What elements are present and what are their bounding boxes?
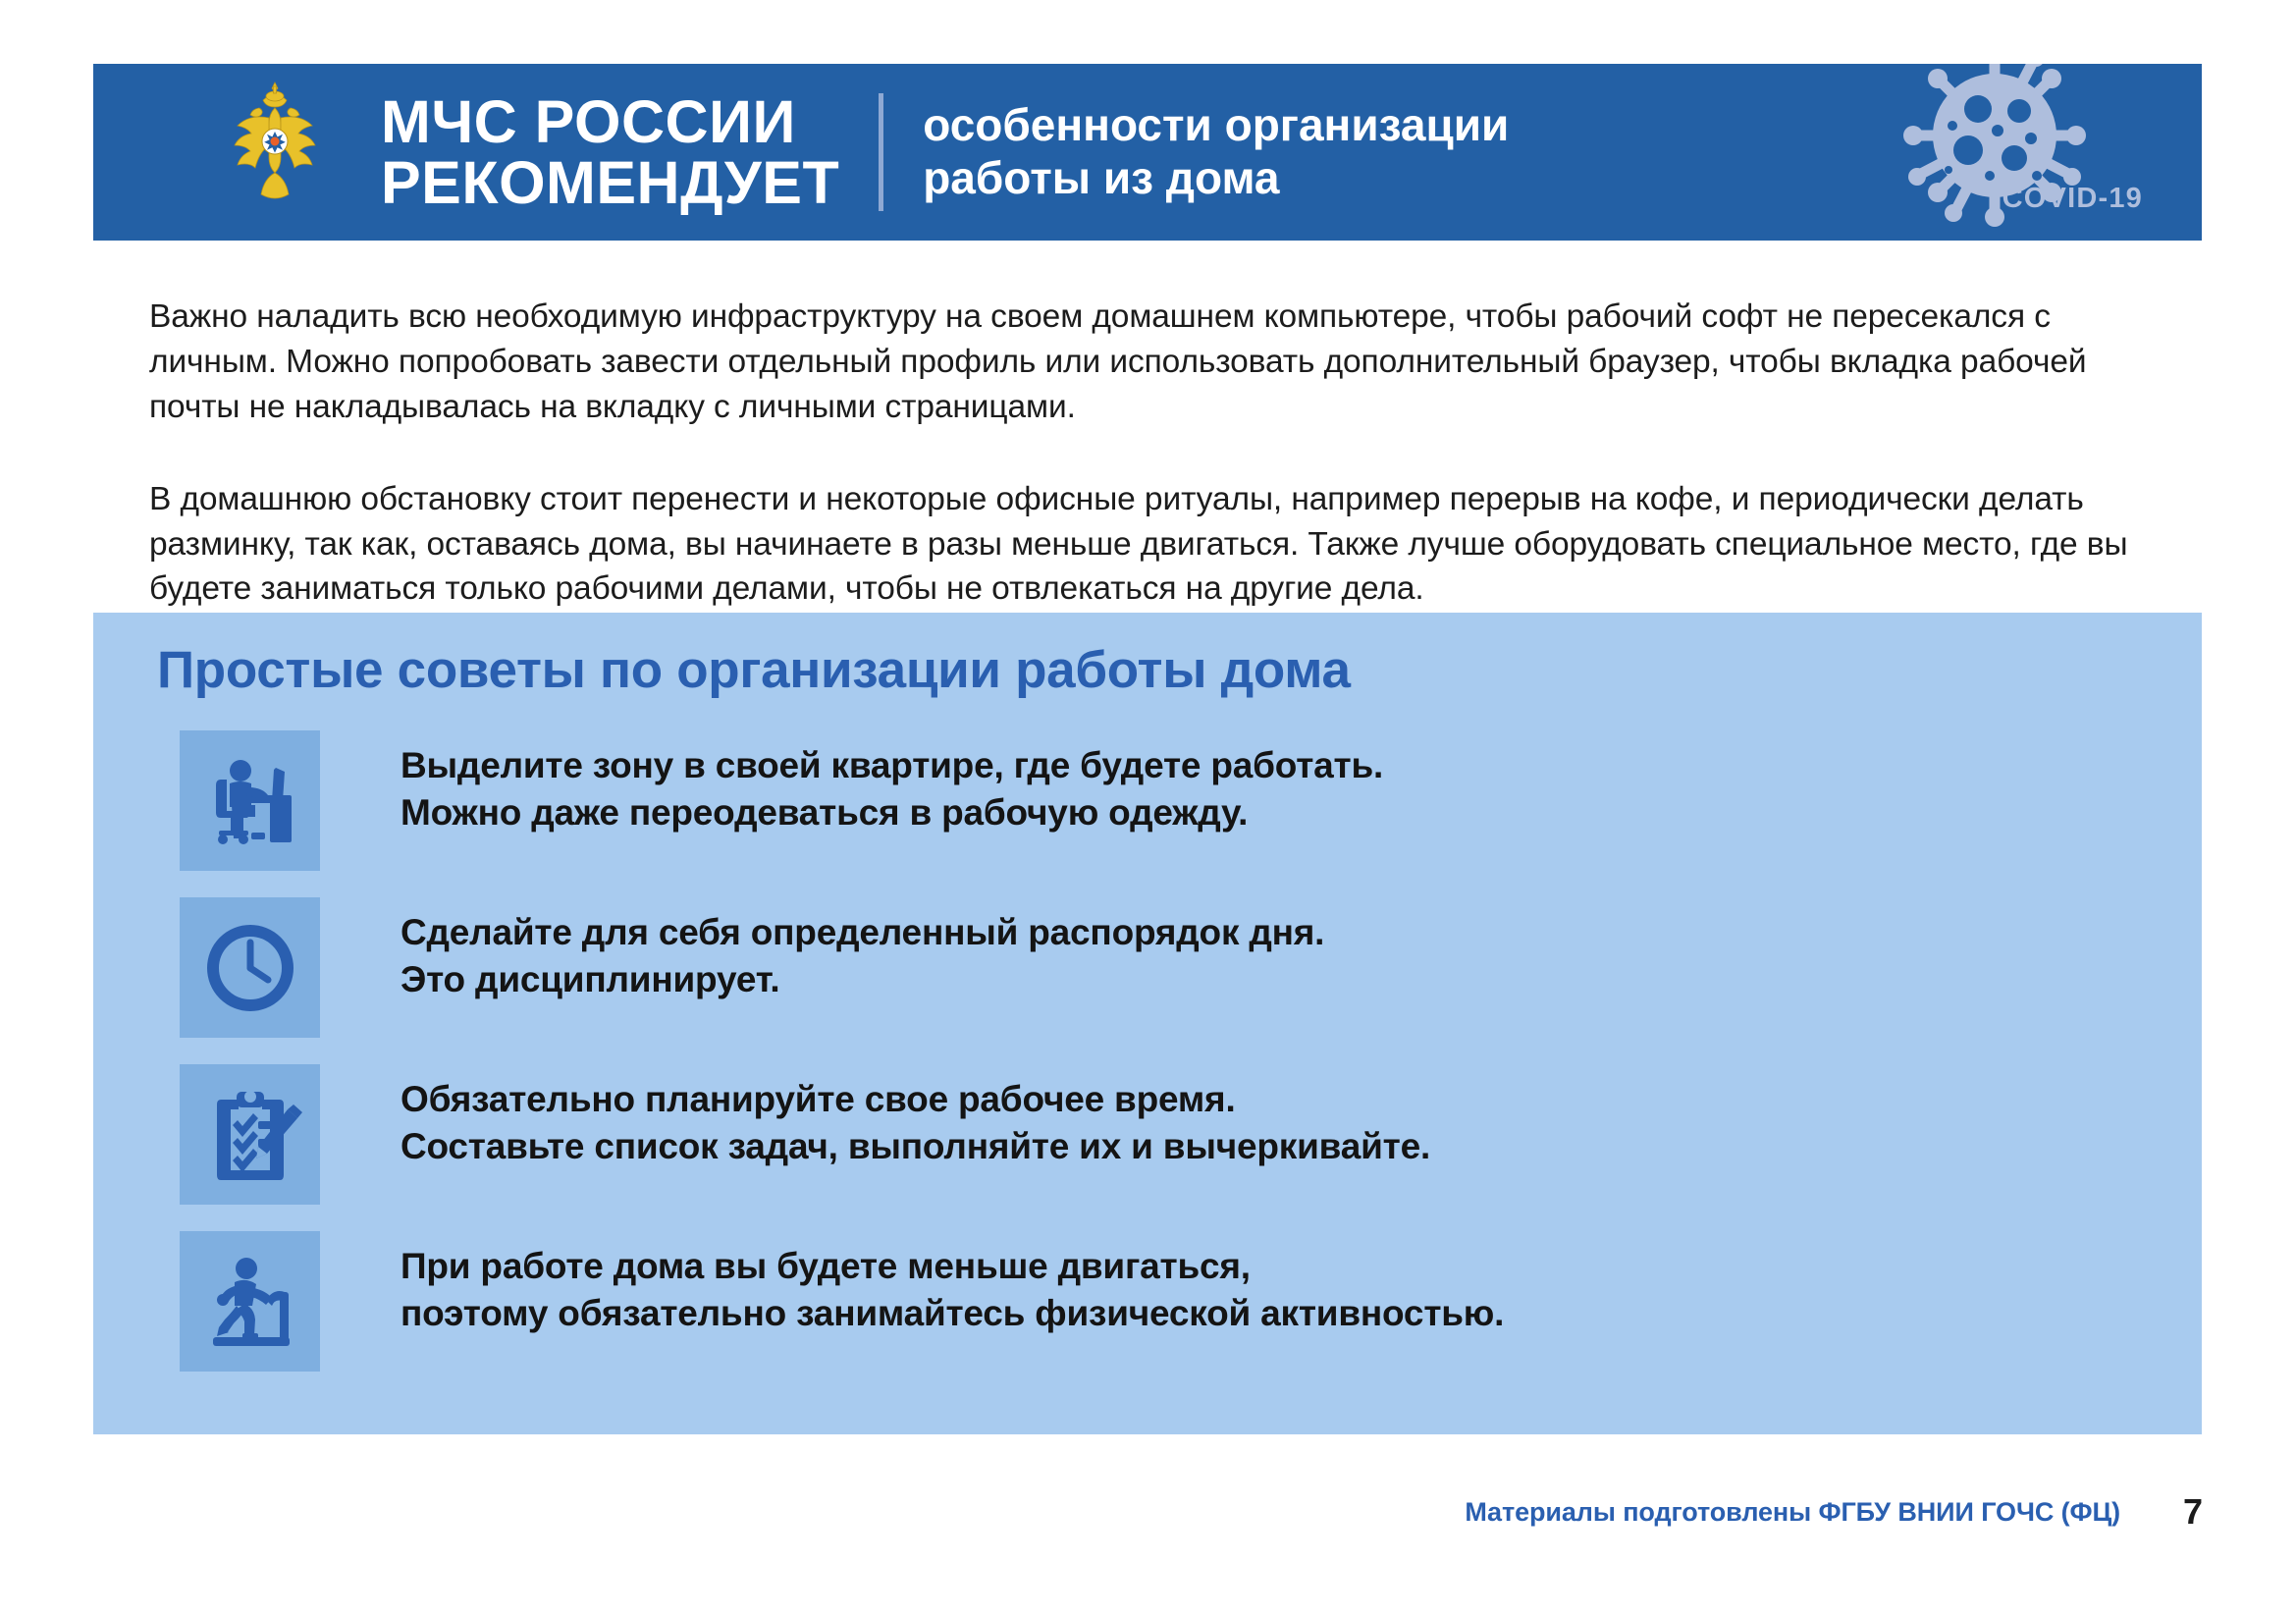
tip-text: При работе дома вы будете меньше двигать… [400, 1231, 2163, 1337]
covid-label: COVID-19 [2002, 183, 2143, 215]
intro-text-block: Важно наладить всю необходимую инфрастру… [149, 295, 2171, 612]
tip-text: Сделайте для себя определенный распорядо… [400, 897, 2163, 1003]
tips-panel-title: Простые советы по организации работы дом… [157, 640, 1351, 700]
tip-line-1: При работе дома вы будете меньше двигать… [400, 1243, 2163, 1290]
intro-paragraph-1: Важно наладить всю необходимую инфрастру… [149, 295, 2171, 430]
tip-item: При работе дома вы будете меньше двигать… [180, 1231, 2163, 1398]
mchs-double-headed-eagle-emblem-icon [216, 79, 334, 226]
tip-line-1: Выделите зону в своей квартире, где буде… [400, 742, 2163, 789]
tips-list: Выделите зону в своей квартире, где буде… [180, 730, 2163, 1398]
tip-line-1: Сделайте для себя определенный распорядо… [400, 909, 2163, 956]
tips-panel: Простые советы по организации работы дом… [93, 613, 2202, 1434]
brand-line-1: МЧС РОССИИ [381, 91, 839, 152]
clipboard-checklist-pencil-icon [180, 1064, 320, 1205]
page-number: 7 [2183, 1491, 2203, 1533]
treadmill-runner-icon [180, 1231, 320, 1372]
tip-line-2: поэтому обязательно занимайтесь физическ… [400, 1290, 2163, 1337]
footer: Материалы подготовлены ФГБУ ВНИИ ГОЧС (Ф… [1465, 1491, 2203, 1533]
tip-text: Выделите зону в своей квартире, где буде… [400, 730, 2163, 836]
tip-item: Обязательно планируйте свое рабочее врем… [180, 1064, 2163, 1231]
person-at-desk-icon [180, 730, 320, 871]
header-banner: МЧС РОССИИ РЕКОМЕНДУЕТ особенности орган… [93, 64, 2202, 241]
tip-line-2: Это дисциплинирует. [400, 956, 2163, 1003]
brand-title: МЧС РОССИИ РЕКОМЕНДУЕТ [381, 91, 839, 213]
intro-paragraph-2: В домашнюю обстановку стоит перенести и … [149, 477, 2171, 613]
tip-line-2: Составьте список задач, выполняйте их и … [400, 1123, 2163, 1170]
tip-item: Выделите зону в своей квартире, где буде… [180, 730, 2163, 897]
tip-item: Сделайте для себя определенный распорядо… [180, 897, 2163, 1064]
tip-text: Обязательно планируйте свое рабочее врем… [400, 1064, 2163, 1170]
brand-line-2: РЕКОМЕНДУЕТ [381, 152, 839, 213]
covid-badge: COVID-19 [1821, 64, 2155, 241]
header-divider [879, 93, 883, 211]
footer-credit: Материалы подготовлены ФГБУ ВНИИ ГОЧС (Ф… [1465, 1497, 2120, 1528]
clock-icon [180, 897, 320, 1038]
tip-line-1: Обязательно планируйте свое рабочее врем… [400, 1076, 2163, 1123]
tip-line-2: Можно даже переодеваться в рабочую одежд… [400, 789, 2163, 836]
